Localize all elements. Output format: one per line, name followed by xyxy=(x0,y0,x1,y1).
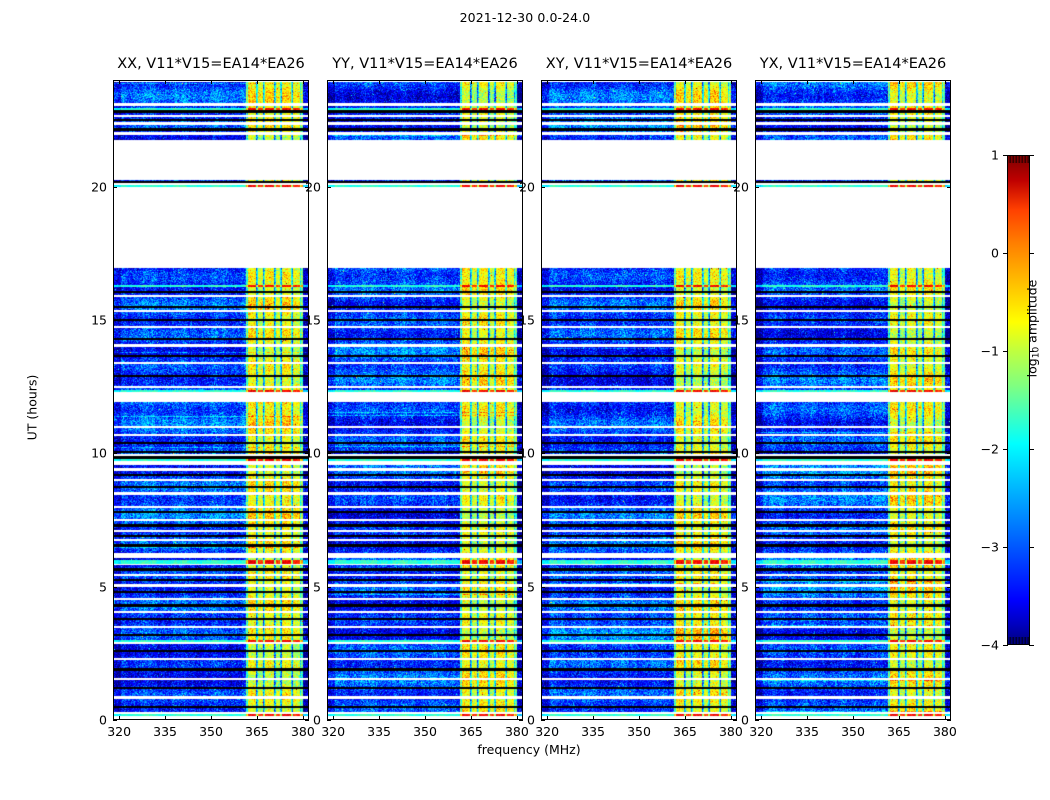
colorbar-tick--3 xyxy=(1003,547,1008,548)
y-tick-label-xy-15: 15 xyxy=(505,313,535,328)
colorbar-tick-label--1: −1 xyxy=(965,344,999,359)
y-tick-label-yx-0: 0 xyxy=(719,713,749,728)
x-tick-label-xy-350: 350 xyxy=(627,724,651,739)
y-tick-right-yx-15 xyxy=(947,320,951,321)
y-tick-label-yy-0: 0 xyxy=(291,713,321,728)
figure-suptitle: 2021-12-30 0.0-24.0 xyxy=(0,10,1050,25)
x-tick-top-yx-320 xyxy=(761,80,762,84)
x-tick-top-xy-380 xyxy=(731,80,732,84)
y-tick-yy-5 xyxy=(327,587,331,588)
x-tick-label-yy-365: 365 xyxy=(459,724,483,739)
x-tick-label-xy-365: 365 xyxy=(673,724,697,739)
colorbar-tick-right--4 xyxy=(1029,645,1034,646)
y-tick-label-xy-20: 20 xyxy=(505,179,535,194)
y-tick-xx-15 xyxy=(113,320,117,321)
x-tick-yy-320 xyxy=(333,716,334,720)
y-tick-xx-0 xyxy=(113,720,117,721)
y-tick-label-yy-10: 10 xyxy=(291,446,321,461)
dynamic-spectrum-xx xyxy=(114,81,308,719)
x-tick-top-yx-350 xyxy=(853,80,854,84)
figure-canvas: 2021-12-30 0.0-24.0 32033535036538005101… xyxy=(0,0,1050,800)
x-tick-xx-320 xyxy=(119,716,120,720)
y-tick-yy-15 xyxy=(327,320,331,321)
x-tick-label-xx-350: 350 xyxy=(199,724,223,739)
x-tick-top-yy-350 xyxy=(425,80,426,84)
colorbar-tick-right--3 xyxy=(1029,547,1034,548)
y-tick-xy-10 xyxy=(541,453,545,454)
x-tick-label-yx-335: 335 xyxy=(795,724,819,739)
dynamic-spectrum-yy xyxy=(328,81,522,719)
panel-xy: XY, V11*V15=EA14*EA26 xyxy=(541,80,737,720)
panel-title-yy: YY, V11*V15=EA14*EA26 xyxy=(332,56,517,72)
x-tick-xx-335 xyxy=(165,716,166,720)
colorbar-tick-label-0: 0 xyxy=(965,246,999,261)
y-tick-label-xy-0: 0 xyxy=(505,713,535,728)
y-tick-label-xy-10: 10 xyxy=(505,446,535,461)
x-tick-top-xy-365 xyxy=(685,80,686,84)
x-tick-label-yx-380: 380 xyxy=(933,724,957,739)
x-tick-top-xx-380 xyxy=(303,80,304,84)
x-tick-yx-365 xyxy=(899,716,900,720)
x-tick-xx-350 xyxy=(211,716,212,720)
y-tick-xx-10 xyxy=(113,453,117,454)
y-tick-right-yx-10 xyxy=(947,453,951,454)
x-tick-top-xx-365 xyxy=(257,80,258,84)
y-tick-xy-15 xyxy=(541,320,545,321)
y-tick-yx-5 xyxy=(755,587,759,588)
colorbar-label-subscript: 10 xyxy=(1032,347,1042,358)
y-tick-yx-0 xyxy=(755,720,759,721)
axes-xy[interactable] xyxy=(541,80,737,720)
x-tick-top-yy-380 xyxy=(517,80,518,84)
axes-yx[interactable] xyxy=(755,80,951,720)
y-tick-label-yy-5: 5 xyxy=(291,579,321,594)
y-tick-xy-0 xyxy=(541,720,545,721)
y-tick-xy-20 xyxy=(541,187,545,188)
x-tick-label-yy-320: 320 xyxy=(321,724,345,739)
x-tick-top-xy-350 xyxy=(639,80,640,84)
x-tick-yx-380 xyxy=(945,716,946,720)
y-tick-yx-10 xyxy=(755,453,759,454)
dynamic-spectrum-xy xyxy=(542,81,736,719)
x-tick-xx-365 xyxy=(257,716,258,720)
dynamic-spectrum-yx xyxy=(756,81,950,719)
colorbar-tick-0 xyxy=(1003,253,1008,254)
x-tick-top-xy-320 xyxy=(547,80,548,84)
x-tick-yy-350 xyxy=(425,716,426,720)
y-tick-right-yx-5 xyxy=(947,587,951,588)
x-tick-yy-365 xyxy=(471,716,472,720)
x-tick-label-yx-320: 320 xyxy=(749,724,773,739)
x-tick-label-yx-350: 350 xyxy=(841,724,865,739)
colorbar-tick-label--4: −4 xyxy=(965,638,999,653)
y-tick-xx-20 xyxy=(113,187,117,188)
y-tick-xx-5 xyxy=(113,587,117,588)
x-tick-label-yx-365: 365 xyxy=(887,724,911,739)
colorbar-label-base: log xyxy=(1025,358,1040,377)
y-tick-yy-10 xyxy=(327,453,331,454)
x-tick-label-xx-320: 320 xyxy=(107,724,131,739)
colorbar-tick--1 xyxy=(1003,351,1008,352)
y-tick-label-xx-0: 0 xyxy=(77,713,107,728)
x-tick-label-yy-335: 335 xyxy=(367,724,391,739)
colorbar-label: log10 amplitude xyxy=(1025,249,1042,409)
x-tick-xy-365 xyxy=(685,716,686,720)
y-tick-label-xx-20: 20 xyxy=(77,179,107,194)
colorbar-label-tail: amplitude xyxy=(1025,280,1040,347)
x-tick-top-yy-365 xyxy=(471,80,472,84)
y-tick-right-yx-0 xyxy=(947,720,951,721)
x-tick-top-xx-350 xyxy=(211,80,212,84)
colorbar-under-cap xyxy=(1008,637,1029,644)
x-tick-xy-320 xyxy=(547,716,548,720)
x-tick-top-yx-335 xyxy=(807,80,808,84)
panel-title-yx: YX, V11*V15=EA14*EA26 xyxy=(760,56,946,72)
y-tick-yy-0 xyxy=(327,720,331,721)
x-tick-xy-350 xyxy=(639,716,640,720)
x-tick-label-xy-335: 335 xyxy=(581,724,605,739)
x-tick-top-yx-365 xyxy=(899,80,900,84)
x-tick-yx-320 xyxy=(761,716,762,720)
x-tick-top-xy-335 xyxy=(593,80,594,84)
x-tick-label-yy-350: 350 xyxy=(413,724,437,739)
colorbar-tick-label--2: −2 xyxy=(965,442,999,457)
colorbar-tick--2 xyxy=(1003,449,1008,450)
y-tick-label-yy-20: 20 xyxy=(291,179,321,194)
x-tick-xy-335 xyxy=(593,716,594,720)
panel-xx: XX, V11*V15=EA14*EA26 xyxy=(113,80,309,720)
x-tick-label-xy-320: 320 xyxy=(535,724,559,739)
x-tick-label-xx-365: 365 xyxy=(245,724,269,739)
panel-yx: YX, V11*V15=EA14*EA26 xyxy=(755,80,951,720)
y-tick-label-yx-10: 10 xyxy=(719,446,749,461)
x-tick-top-yy-335 xyxy=(379,80,380,84)
x-tick-yy-335 xyxy=(379,716,380,720)
x-axis-label: frequency (MHz) xyxy=(113,742,945,757)
axes-yy[interactable] xyxy=(327,80,523,720)
y-tick-yy-20 xyxy=(327,187,331,188)
panel-yy: YY, V11*V15=EA14*EA26 xyxy=(327,80,523,720)
x-tick-top-xx-335 xyxy=(165,80,166,84)
y-axis-label: UT (hours) xyxy=(25,338,40,478)
x-tick-label-xx-335: 335 xyxy=(153,724,177,739)
y-tick-label-yx-5: 5 xyxy=(719,579,749,594)
y-tick-label-xy-5: 5 xyxy=(505,579,535,594)
colorbar-tick-right--2 xyxy=(1029,449,1034,450)
colorbar-tick-label--3: −3 xyxy=(965,540,999,555)
panel-title-xx: XX, V11*V15=EA14*EA26 xyxy=(117,56,305,72)
colorbar-tick-1 xyxy=(1003,155,1008,156)
colorbar-tick--4 xyxy=(1003,645,1008,646)
y-tick-label-xx-5: 5 xyxy=(77,579,107,594)
colorbar-tick-right-1 xyxy=(1029,155,1034,156)
x-tick-yx-335 xyxy=(807,716,808,720)
x-tick-top-yx-380 xyxy=(945,80,946,84)
y-tick-label-xx-10: 10 xyxy=(77,446,107,461)
panel-title-xy: XY, V11*V15=EA14*EA26 xyxy=(546,56,732,72)
y-tick-yx-15 xyxy=(755,320,759,321)
y-tick-label-yy-15: 15 xyxy=(291,313,321,328)
x-tick-top-xx-320 xyxy=(119,80,120,84)
colorbar-over-cap xyxy=(1008,156,1029,163)
x-tick-top-yy-320 xyxy=(333,80,334,84)
y-tick-label-yx-15: 15 xyxy=(719,313,749,328)
y-tick-label-yx-20: 20 xyxy=(719,179,749,194)
y-tick-label-xx-15: 15 xyxy=(77,313,107,328)
axes-xx[interactable] xyxy=(113,80,309,720)
x-tick-yx-350 xyxy=(853,716,854,720)
y-tick-right-yx-20 xyxy=(947,187,951,188)
y-tick-yx-20 xyxy=(755,187,759,188)
y-tick-xy-5 xyxy=(541,587,545,588)
colorbar-tick-label-1: 1 xyxy=(965,148,999,163)
